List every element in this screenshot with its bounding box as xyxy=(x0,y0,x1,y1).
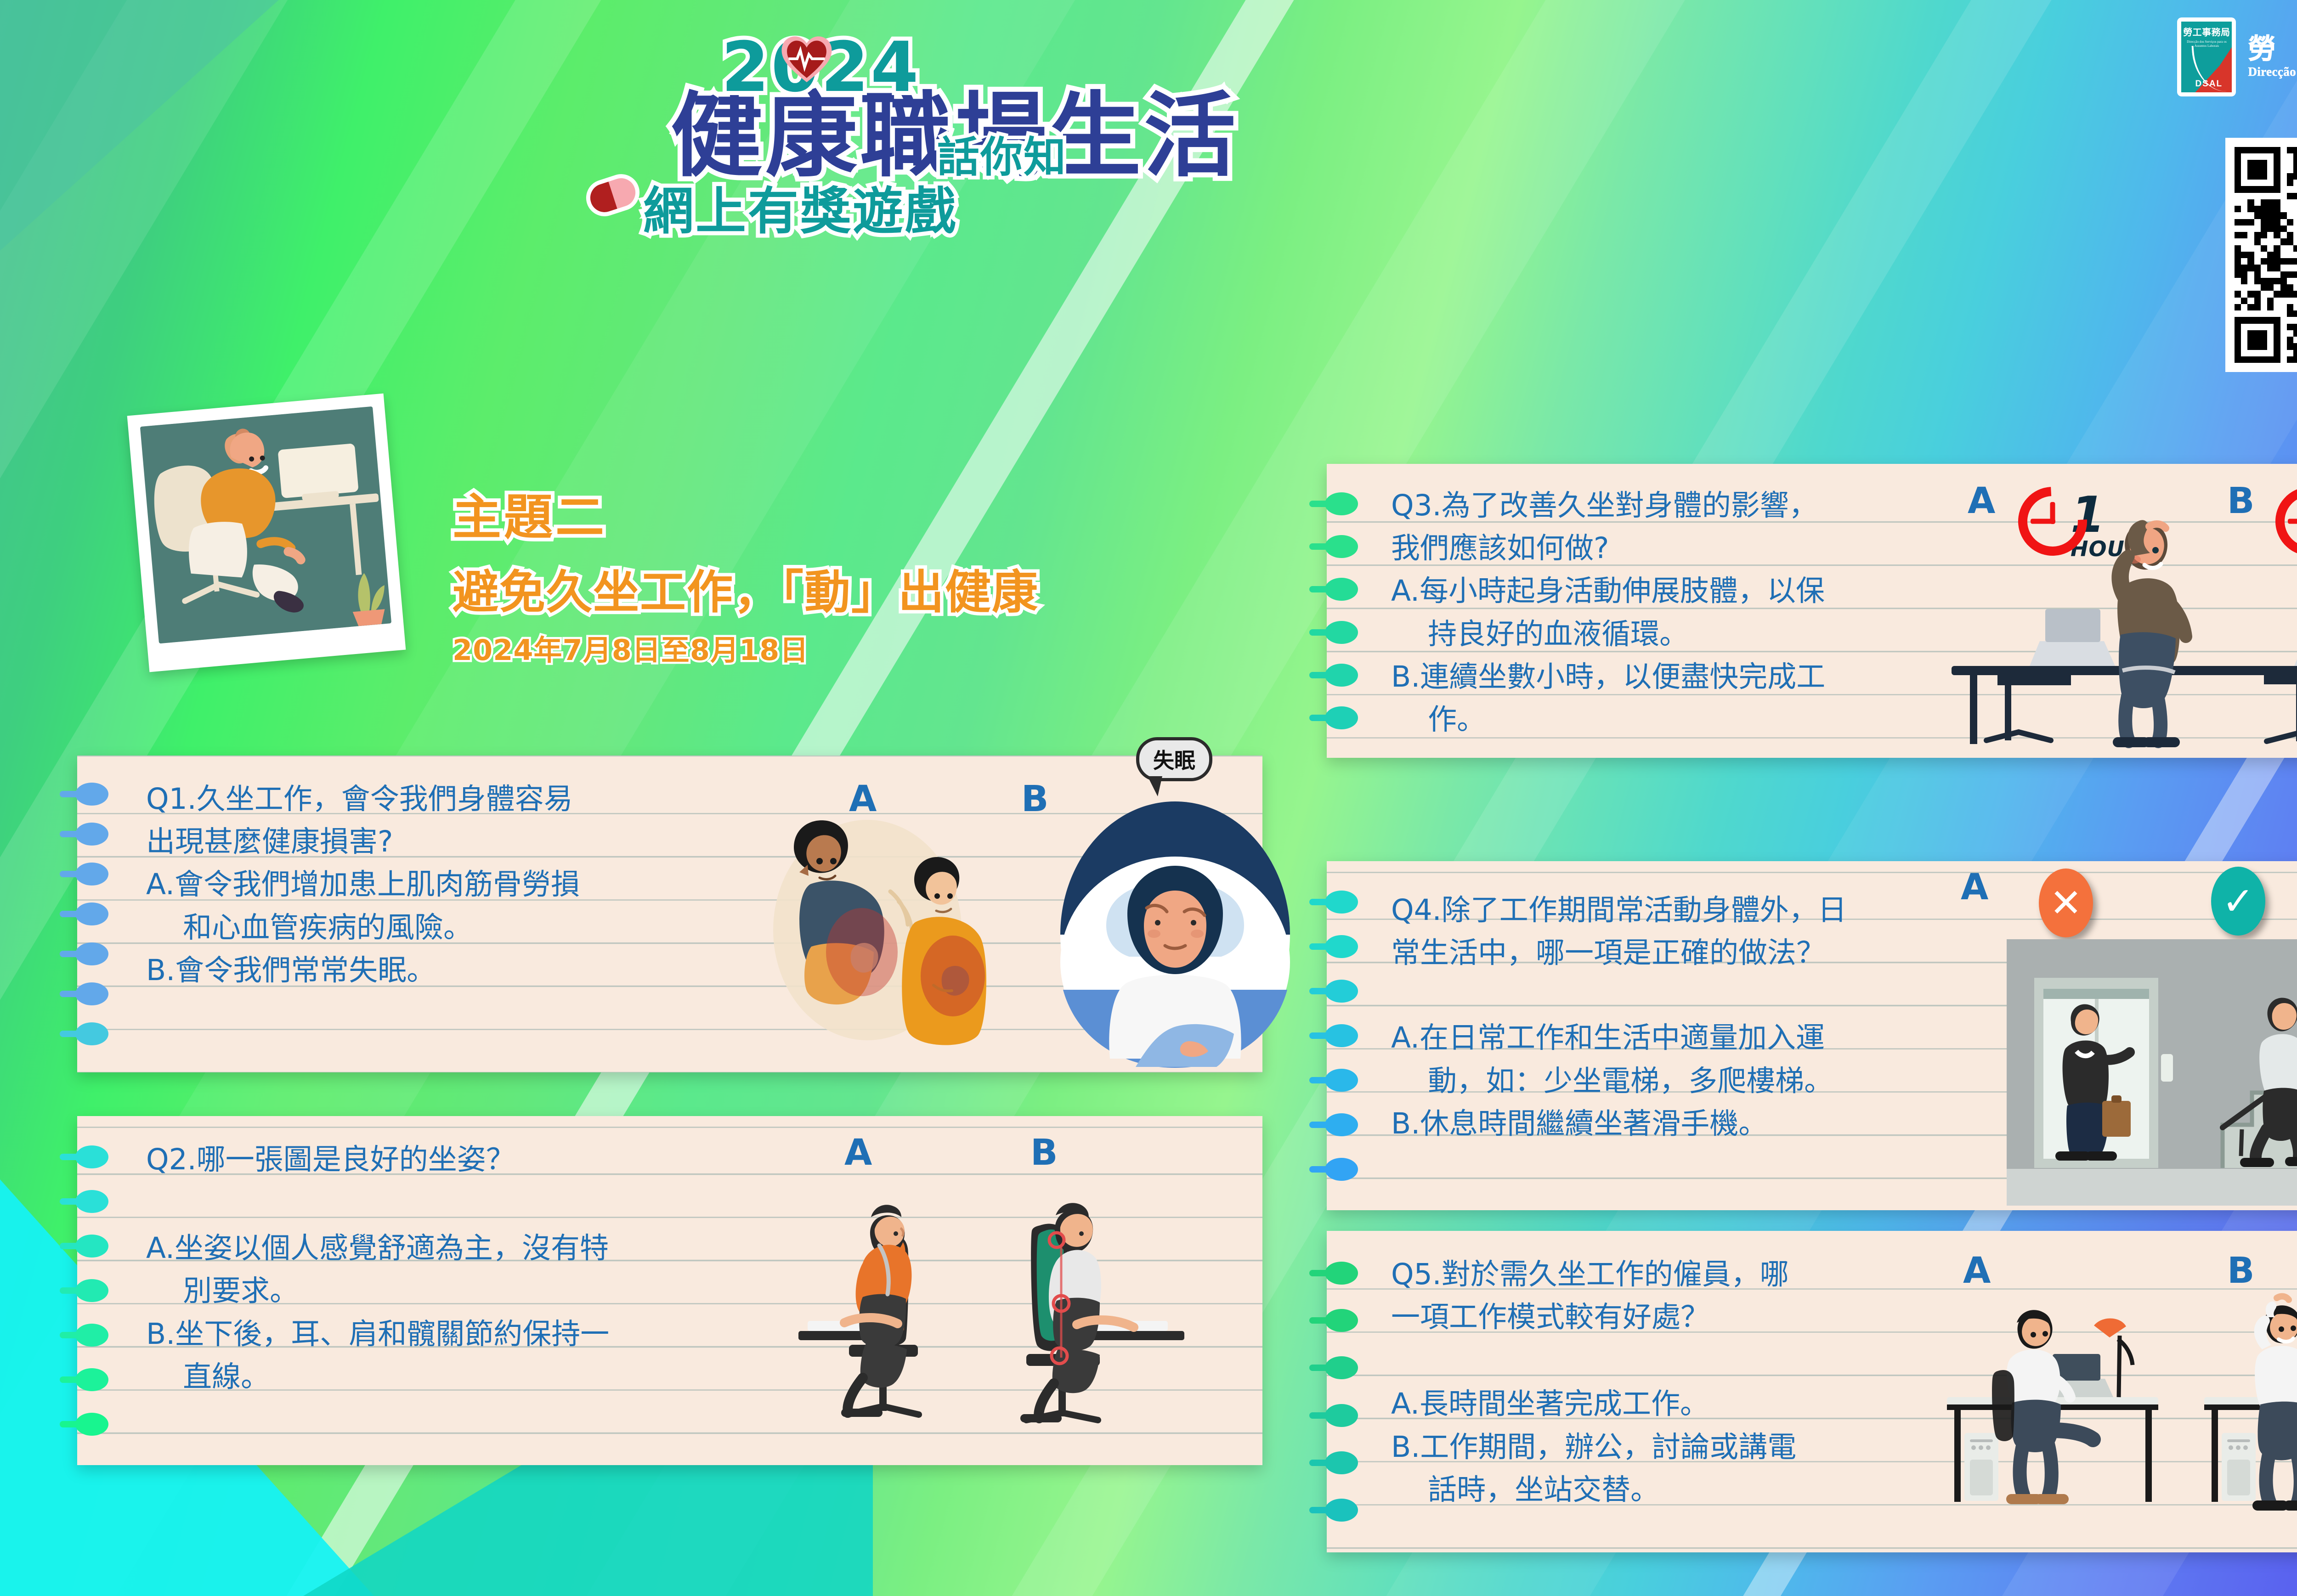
q2-question: Q2.哪一張圖是良好的坐姿？ xyxy=(146,1138,743,1181)
q2-label-a: A xyxy=(844,1132,872,1173)
q5-illustration-sit-vs-stand xyxy=(1938,1281,2297,1548)
q1-speech-bubble: 失眠 xyxy=(1136,737,1212,781)
org-name-cn: 勞 工 事 務 局 xyxy=(2248,35,2297,64)
q1-label-a: A xyxy=(849,778,877,820)
q4-option-a[interactable]: A.在日常工作和生活中適量加入運 動，如：少坐電梯，多爬樓梯。 xyxy=(1391,1016,1942,1102)
q1-option-b[interactable]: B.會令我們常常失眠。 xyxy=(146,949,757,992)
q2-illustration-a-bad-posture xyxy=(794,1185,1010,1442)
poster-title-block: 2024 健康職場生活 xyxy=(671,28,1819,185)
q2-illustration-b-good-posture xyxy=(987,1185,1203,1442)
stretching-at-desk-photo xyxy=(127,394,406,672)
q5-option-b[interactable]: B.工作期間，辦公，討論或講電 話時，坐站交替。 xyxy=(1391,1426,1906,1511)
poster-root: 勞工事務局 Direcção dos Serviços para os Assu… xyxy=(0,0,2297,1596)
q2-option-b[interactable]: B.坐下後，耳、肩和髖關節約保持一 直線。 xyxy=(146,1313,743,1398)
theme-date-range: 2024年7月8日至8月18日 xyxy=(453,627,1279,668)
dsal-abbr: DSAL xyxy=(2195,79,2223,89)
q1-illustration-a xyxy=(752,792,1065,1068)
dsal-logo-mark: 勞工事務局 Direcção dos Serviços para os Assu… xyxy=(2177,17,2236,96)
q2-label-b: B xyxy=(1030,1132,1058,1173)
qr-code-matrix xyxy=(2235,147,2297,363)
q4-question: Q4.除了工作期間常活動身體外，日 常生活中，哪一項是正確的做法？ xyxy=(1391,889,1942,974)
potted-plant-icon xyxy=(333,554,392,628)
q4-illustration-elevator-vs-stairs xyxy=(2007,939,2297,1206)
q5-label-a: A xyxy=(1963,1250,1991,1291)
q2-option-a[interactable]: A.坐姿以個人感覺舒適為主，沒有特 別要求。 xyxy=(146,1227,743,1312)
q4-cross-icon: ✕ xyxy=(2039,868,2093,937)
q4-label-a: A xyxy=(1961,867,1988,908)
dsal-logo-block: 勞工事務局 Direcção dos Serviços para os Assu… xyxy=(2177,17,2297,96)
dsal-mark-cn: 勞工事務局 xyxy=(2183,25,2230,38)
theme-line-1: 主題二 xyxy=(453,478,1279,548)
q3-label-b: B xyxy=(2227,480,2254,522)
year-badge: 2024 xyxy=(721,28,1819,96)
subtitle-secondary: 網上有獎遊戲 xyxy=(643,170,957,243)
q1-illustration-b xyxy=(1037,788,1322,1072)
q3-illustration-office-scene xyxy=(1942,482,2297,758)
q1-option-a[interactable]: A.會令我們增加患上肌肉筋骨勞損 和心血管疾病的風險。 xyxy=(146,863,757,948)
theme-block: 主題二 避免久坐工作，「動」出健康 2024年7月8日至8月18日 xyxy=(453,478,1279,668)
q1-question: Q1.久坐工作，會令我們身體容易 出現甚麼健康損害? xyxy=(146,778,757,863)
q3-label-a: A xyxy=(1968,480,1995,522)
q3-option-b[interactable]: B.連續坐數小時，以便盡快完成工 作。 xyxy=(1391,655,1938,741)
question-card-q3: Q3.為了改善久坐對身體的影響， 我們應該如何做? A.每小時起身活動伸展肢體，… xyxy=(1327,464,2297,758)
q5-label-b: B xyxy=(2227,1250,2254,1291)
q4-option-b[interactable]: B.休息時間繼續坐著滑手機。 xyxy=(1391,1102,1942,1145)
q5-question: Q5.對於需久坐工作的僱員，哪 一項工作模式較有好處？ xyxy=(1391,1253,1906,1338)
qr-code[interactable] xyxy=(2225,138,2297,372)
q4-check-icon: ✓ xyxy=(2211,867,2265,936)
q5-option-a[interactable]: A.長時間坐著完成工作。 xyxy=(1391,1382,1906,1425)
heartbeat-icon xyxy=(780,34,833,84)
theme-line-2: 避免久坐工作，「動」出健康 xyxy=(453,555,1279,621)
q3-option-a[interactable]: A.每小時起身活動伸展肢體，以保 持良好的血液循環。 xyxy=(1391,570,1938,655)
org-name-pt: Direcção dos Serviços para os Assuntos L… xyxy=(2248,65,2297,79)
question-card-q5: Q5.對於需久坐工作的僱員，哪 一項工作模式較有好處？ A.長時間坐著完成工作。… xyxy=(1327,1231,2297,1552)
question-card-q1: Q1.久坐工作，會令我們身體容易 出現甚麼健康損害? A.會令我們增加患上肌肉筋… xyxy=(77,756,1262,1072)
question-card-q4: Q4.除了工作期間常活動身體外，日 常生活中，哪一項是正確的做法？ A.在日常工… xyxy=(1327,861,2297,1210)
q1-label-b: B xyxy=(1021,778,1048,820)
question-card-q2: Q2.哪一張圖是良好的坐姿？ A.坐姿以個人感覺舒適為主，沒有特 別要求。 B.… xyxy=(77,1116,1262,1465)
q3-question: Q3.為了改善久坐對身體的影響， 我們應該如何做? xyxy=(1391,484,1938,570)
